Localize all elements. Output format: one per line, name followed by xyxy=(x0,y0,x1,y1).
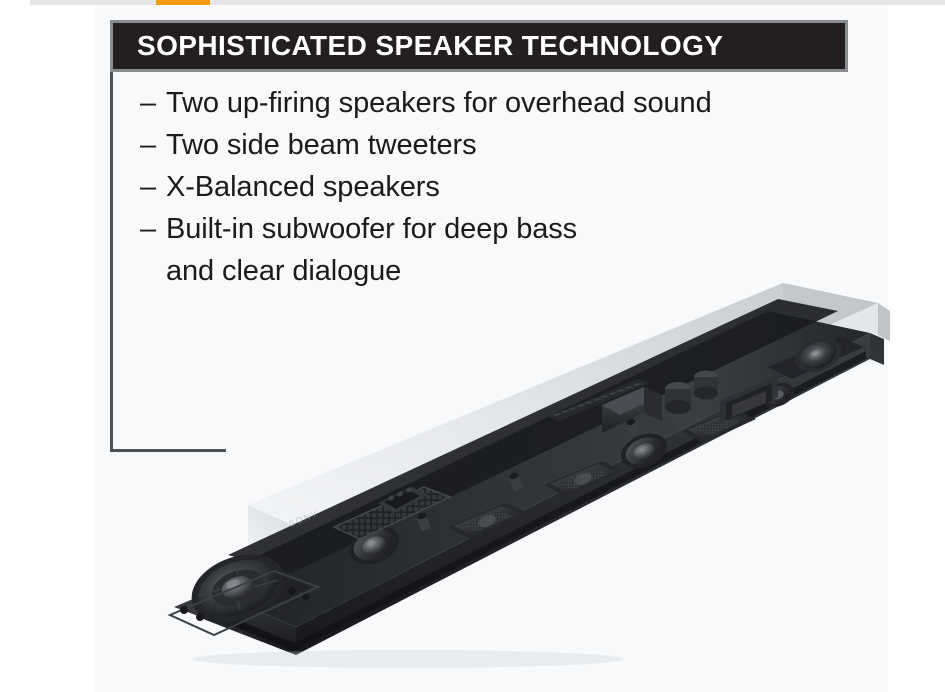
page-title: SOPHISTICATED SPEAKER TECHNOLOGY xyxy=(137,30,723,62)
bullet-dash-icon: – xyxy=(140,124,166,166)
bullet-dash-icon: – xyxy=(140,82,166,124)
slide-progress-track[interactable] xyxy=(30,0,945,5)
soundbar-cutaway-image: SONY xyxy=(78,255,890,675)
list-item: – Two up-firing speakers for overhead so… xyxy=(140,82,870,124)
list-item: – Built-in subwoofer for deep bass xyxy=(140,208,870,250)
slide-progress-fill xyxy=(156,0,210,5)
list-item-label: Two side beam tweeters xyxy=(166,124,870,166)
list-item: – X-Balanced speakers xyxy=(140,166,870,208)
bullet-dash-icon: – xyxy=(140,208,166,250)
slide-title-bar: SOPHISTICATED SPEAKER TECHNOLOGY xyxy=(110,20,848,72)
list-item-label: Built-in subwoofer for deep bass xyxy=(166,208,870,250)
bullet-dash-icon: – xyxy=(140,166,166,208)
list-item-label: Two up-firing speakers for overhead soun… xyxy=(166,82,870,124)
slide-canvas: SOPHISTICATED SPEAKER TECHNOLOGY – Two u… xyxy=(0,0,945,692)
list-item: – Two side beam tweeters xyxy=(140,124,870,166)
list-item-label: X-Balanced speakers xyxy=(166,166,870,208)
